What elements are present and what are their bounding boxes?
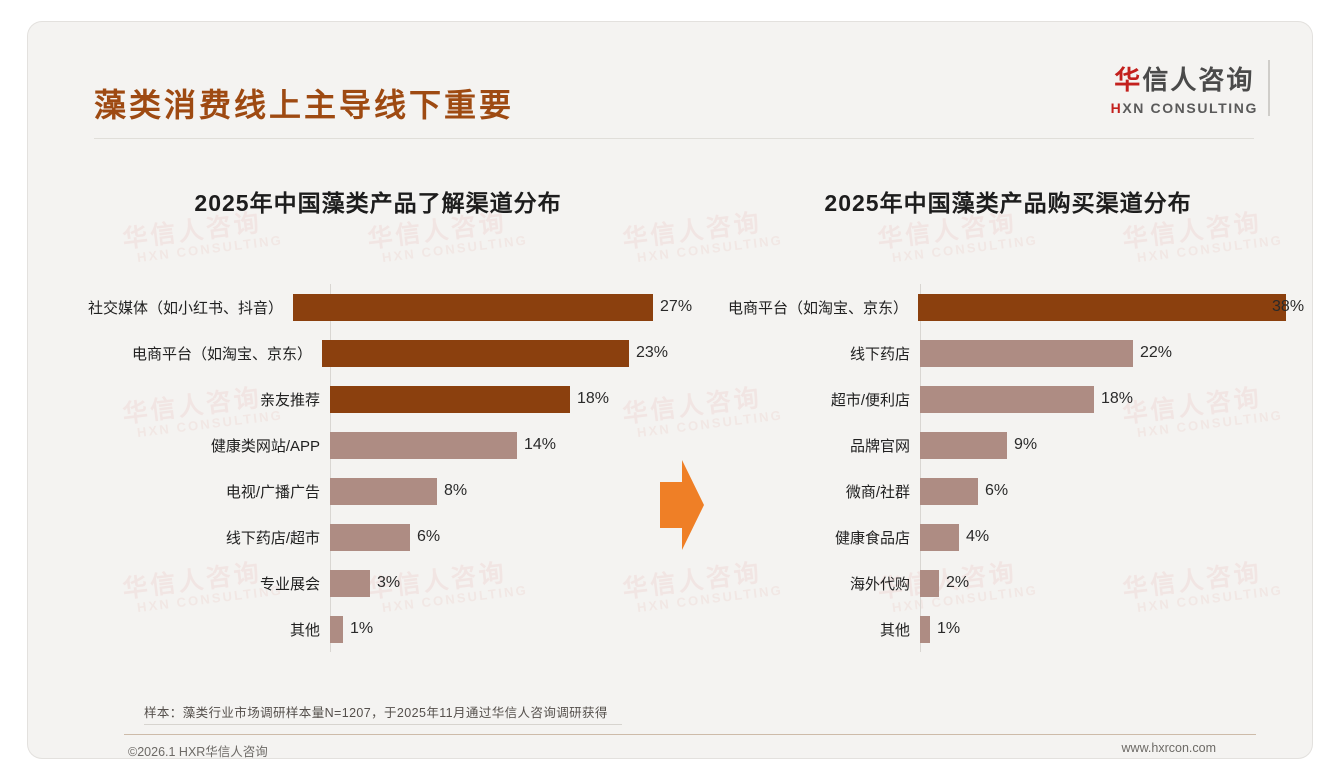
bar-value-label: 23% <box>636 344 668 362</box>
bar-track: 1% <box>330 606 668 652</box>
bar-row: 社交媒体（如小红书、抖音）27% <box>88 284 668 330</box>
bar-category-label: 专业展会 <box>88 573 330 594</box>
bar-track: 27% <box>293 284 692 330</box>
logo-chinese-rest: 信人咨询 <box>1142 65 1254 95</box>
bar-value-label: 6% <box>985 482 1008 500</box>
bar-value-label: 1% <box>937 620 960 638</box>
bar-chart-awareness: 社交媒体（如小红书、抖音）27%电商平台（如淘宝、京东）23%亲友推荐18%健康… <box>88 284 668 652</box>
bar <box>920 432 1007 459</box>
footer-divider <box>124 734 1256 735</box>
bar-category-label: 电商平台（如淘宝、京东） <box>728 297 918 318</box>
chart-panel-awareness: 2025年中国藻类产品了解渠道分布 社交媒体（如小红书、抖音）27%电商平台（如… <box>88 162 668 672</box>
bar <box>918 294 1286 321</box>
bar-row: 电视/广播广告8% <box>88 468 668 514</box>
bar-category-label: 电商平台（如淘宝、京东） <box>88 343 322 364</box>
bar-value-label: 38% <box>1272 298 1304 316</box>
company-logo: 华信人咨询 HXN CONSULTING <box>1111 60 1270 116</box>
bar-value-label: 14% <box>524 436 556 454</box>
bar-value-label: 9% <box>1014 436 1037 454</box>
bar-category-label: 其他 <box>88 619 330 640</box>
header-divider <box>94 138 1254 139</box>
bar-track: 2% <box>920 560 1288 606</box>
bar <box>920 340 1133 367</box>
bar-value-label: 8% <box>444 482 467 500</box>
copyright-text: ©2026.1 HXR华信人咨询 <box>128 741 268 758</box>
page-title: 藻类消费线上主导线下重要 <box>94 80 514 126</box>
bar-row: 其他1% <box>728 606 1288 652</box>
bar-track: 6% <box>920 468 1288 514</box>
bar-row: 微商/社群6% <box>728 468 1288 514</box>
bar <box>920 616 930 643</box>
bar-track: 18% <box>330 376 668 422</box>
bar <box>330 432 517 459</box>
bar-track: 23% <box>322 330 668 376</box>
bar-category-label: 其他 <box>728 619 920 640</box>
bar-track: 14% <box>330 422 668 468</box>
bar-category-label: 亲友推荐 <box>88 389 330 410</box>
logo-english: HXN CONSULTING <box>1111 100 1258 116</box>
bar-category-label: 电视/广播广告 <box>88 481 330 502</box>
bar-value-label: 4% <box>966 528 989 546</box>
bar-chart-purchase: 电商平台（如淘宝、京东）38%线下药店22%超市/便利店18%品牌官网9%微商/… <box>728 284 1288 652</box>
bar-value-label: 3% <box>377 574 400 592</box>
slide-header: 藻类消费线上主导线下重要 华信人咨询 HXN CONSULTING <box>28 22 1312 138</box>
bar-category-label: 微商/社群 <box>728 481 920 502</box>
bar-category-label: 健康食品店 <box>728 527 920 548</box>
chart-title-awareness: 2025年中国藻类产品了解渠道分布 <box>88 184 668 218</box>
bar <box>330 524 410 551</box>
bar <box>920 386 1094 413</box>
bar-row: 专业展会3% <box>88 560 668 606</box>
bar-row: 电商平台（如淘宝、京东）38% <box>728 284 1288 330</box>
bar-row: 超市/便利店18% <box>728 376 1288 422</box>
bar-track: 6% <box>330 514 668 560</box>
bar-row: 健康类网站/APP14% <box>88 422 668 468</box>
logo-chinese: 华信人咨询 <box>1111 60 1258 97</box>
bar-row: 健康食品店4% <box>728 514 1288 560</box>
bar-track: 9% <box>920 422 1288 468</box>
bar-track: 22% <box>920 330 1288 376</box>
bar-category-label: 线下药店 <box>728 343 920 364</box>
bar <box>330 478 437 505</box>
bar <box>920 570 939 597</box>
bar <box>293 294 653 321</box>
bar-row: 线下药店22% <box>728 330 1288 376</box>
bar <box>322 340 629 367</box>
bar-row: 线下药店/超市6% <box>88 514 668 560</box>
bar-row: 品牌官网9% <box>728 422 1288 468</box>
footnote-divider <box>144 724 622 725</box>
slide-card: 华信人咨询HXN CONSULTING华信人咨询HXN CONSULTING华信… <box>28 22 1312 758</box>
bar-row: 电商平台（如淘宝、京东）23% <box>88 330 668 376</box>
bar-row: 海外代购2% <box>728 560 1288 606</box>
slide-root: 华信人咨询HXN CONSULTING华信人咨询HXN CONSULTING华信… <box>0 0 1340 780</box>
bar-value-label: 22% <box>1140 344 1172 362</box>
bar <box>920 478 978 505</box>
bar <box>330 616 343 643</box>
bar-value-label: 18% <box>1101 390 1133 408</box>
bar-category-label: 超市/便利店 <box>728 389 920 410</box>
website-url: www.hxrcon.com <box>1122 741 1216 755</box>
bar-value-label: 6% <box>417 528 440 546</box>
logo-english-rest: XN CONSULTING <box>1122 100 1258 116</box>
bar <box>920 524 959 551</box>
bar-category-label: 海外代购 <box>728 573 920 594</box>
bar-category-label: 健康类网站/APP <box>88 435 330 456</box>
bar-track: 4% <box>920 514 1288 560</box>
bar-value-label: 27% <box>660 298 692 316</box>
bar <box>330 386 570 413</box>
bar-row: 亲友推荐18% <box>88 376 668 422</box>
logo-chinese-first-char: 华 <box>1114 65 1142 95</box>
bar-value-label: 2% <box>946 574 969 592</box>
chart-panel-purchase: 2025年中国藻类产品购买渠道分布 电商平台（如淘宝、京东）38%线下药店22%… <box>728 162 1288 672</box>
bar-category-label: 品牌官网 <box>728 435 920 456</box>
logo-english-first-char: H <box>1111 100 1123 116</box>
bar-track: 3% <box>330 560 668 606</box>
bar-row: 其他1% <box>88 606 668 652</box>
bar <box>330 570 370 597</box>
bar-value-label: 1% <box>350 620 373 638</box>
bar-value-label: 18% <box>577 390 609 408</box>
bar-track: 38% <box>918 284 1304 330</box>
flow-arrow-right-icon <box>660 460 704 550</box>
bar-category-label: 社交媒体（如小红书、抖音） <box>88 297 293 318</box>
bar-track: 8% <box>330 468 668 514</box>
bar-track: 18% <box>920 376 1288 422</box>
bar-category-label: 线下药店/超市 <box>88 527 330 548</box>
chart-title-purchase: 2025年中国藻类产品购买渠道分布 <box>728 184 1288 218</box>
sample-footnote: 样本：藻类行业市场调研样本量N=1207，于2025年11月通过华信人咨询调研获… <box>144 702 608 721</box>
bar-track: 1% <box>920 606 1288 652</box>
